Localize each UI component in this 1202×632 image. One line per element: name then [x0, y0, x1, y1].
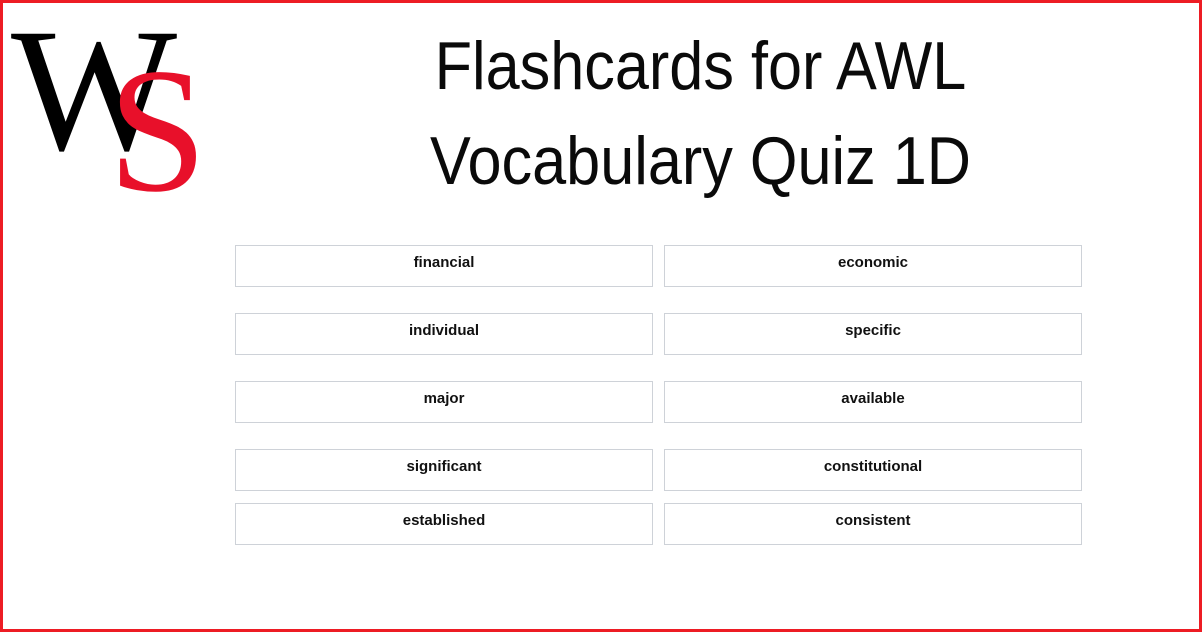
flashcard-economic[interactable]: economic	[664, 245, 1082, 287]
word-row: established consistent	[235, 503, 1082, 545]
flashcard-word-label: individual	[409, 322, 479, 339]
word-row: financial economic	[235, 245, 1082, 287]
ws-monogram-logo: W S	[11, 7, 196, 207]
page-title-line-1: Flashcards for AWL	[257, 19, 1144, 114]
flashcard-consistent[interactable]: consistent	[664, 503, 1082, 545]
page-title: Flashcards for AWL Vocabulary Quiz 1D	[208, 19, 1193, 209]
flashcard-established[interactable]: established	[235, 503, 653, 545]
flashcard-major[interactable]: major	[235, 381, 653, 423]
flashcard-word-label: available	[841, 390, 904, 407]
flashcard-word-label: significant	[406, 458, 481, 475]
flashcard-available[interactable]: available	[664, 381, 1082, 423]
flashcard-word-label: major	[424, 390, 465, 407]
flashcard-word-label: financial	[414, 254, 475, 271]
logo-letter-s: S	[108, 41, 207, 219]
page-title-line-2: Vocabulary Quiz 1D	[257, 114, 1144, 209]
word-row: major available	[235, 381, 1082, 423]
flashcard-constitutional[interactable]: constitutional	[664, 449, 1082, 491]
flashcard-individual[interactable]: individual	[235, 313, 653, 355]
flashcard-significant[interactable]: significant	[235, 449, 653, 491]
word-row: significant constitutional	[235, 449, 1082, 491]
flashcard-word-label: economic	[838, 254, 908, 271]
flashcard-word-label: established	[403, 512, 486, 529]
flashcards-page: W S Flashcards for AWL Vocabulary Quiz 1…	[0, 0, 1202, 632]
flashcard-financial[interactable]: financial	[235, 245, 653, 287]
page-header: W S Flashcards for AWL Vocabulary Quiz 1…	[3, 3, 1199, 225]
flashcard-word-label: specific	[845, 322, 901, 339]
flashcard-word-label: consistent	[835, 512, 910, 529]
flashcard-word-grid: financial economic individual specific m…	[235, 245, 1082, 545]
flashcard-specific[interactable]: specific	[664, 313, 1082, 355]
word-row: individual specific	[235, 313, 1082, 355]
flashcard-word-label: constitutional	[824, 458, 922, 475]
